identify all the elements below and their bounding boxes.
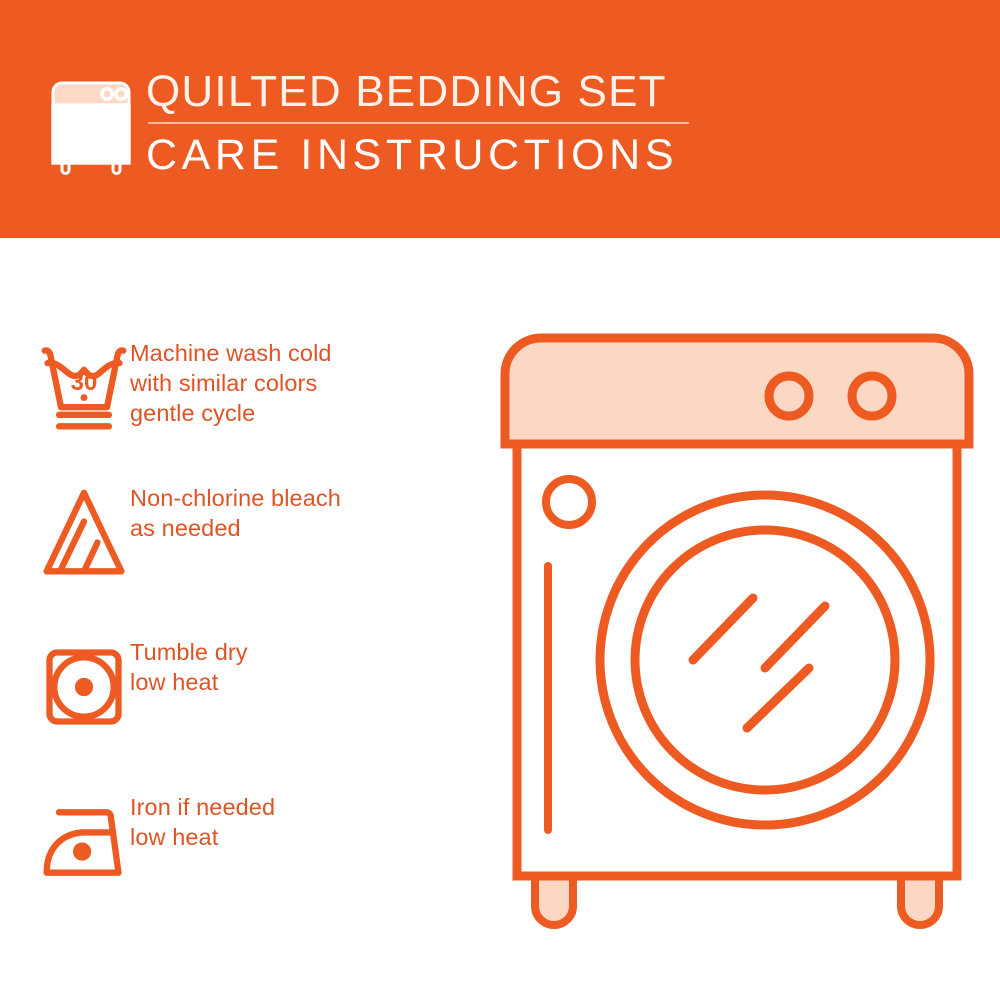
header-text-block: QUILTED BEDDING SET CARE INSTRUCTIONS — [146, 66, 746, 180]
care-line: Machine wash cold — [130, 338, 332, 368]
care-instruction-list: 30 Machine wash cold with similar colors… — [0, 238, 500, 1000]
care-line: gentle cycle — [130, 398, 332, 428]
header-banner: QUILTED BEDDING SET CARE INSTRUCTIONS — [0, 0, 1000, 238]
care-line: with similar colors — [130, 368, 332, 398]
wash-temperature-value: 30 — [71, 369, 98, 396]
care-line: low heat — [130, 822, 275, 852]
care-line: Tumble dry — [130, 637, 248, 667]
iron-low-heat-icon — [0, 790, 130, 894]
care-line: Iron if needed — [130, 792, 275, 822]
wash-tub-30-gentle-icon: 30 — [0, 336, 130, 440]
page-title: QUILTED BEDDING SET — [146, 66, 746, 118]
side-button — [546, 479, 592, 525]
care-instructions-page: QUILTED BEDDING SET CARE INSTRUCTIONS 30 — [0, 0, 1000, 1000]
care-item-wash: 30 Machine wash cold with similar colors… — [0, 336, 480, 440]
care-item-tumble-dry: Tumble dry low heat — [0, 635, 480, 739]
care-line: low heat — [130, 667, 248, 697]
page-subtitle: CARE INSTRUCTIONS — [146, 130, 746, 180]
care-line: Non-chlorine bleach — [130, 483, 341, 513]
door-inner-ring — [635, 530, 895, 790]
care-item-iron: Iron if needed low heat — [0, 790, 480, 894]
care-item-bleach-label: Non-chlorine bleach as needed — [130, 481, 341, 543]
knob-left — [769, 376, 809, 416]
tumble-dry-low-heat-icon — [0, 635, 130, 739]
care-item-iron-label: Iron if needed low heat — [130, 790, 275, 852]
care-item-wash-label: Machine wash cold with similar colors ge… — [130, 336, 332, 428]
care-line: as needed — [130, 513, 341, 543]
control-panel — [505, 338, 969, 444]
care-item-bleach: Non-chlorine bleach as needed — [0, 481, 480, 585]
triangle-non-chlorine-bleach-icon — [0, 481, 130, 585]
washing-machine-illustration — [497, 330, 977, 950]
knob-right — [852, 376, 892, 416]
title-divider — [148, 122, 689, 124]
washing-machine-icon — [45, 72, 141, 176]
care-item-tumble-dry-label: Tumble dry low heat — [130, 635, 248, 697]
